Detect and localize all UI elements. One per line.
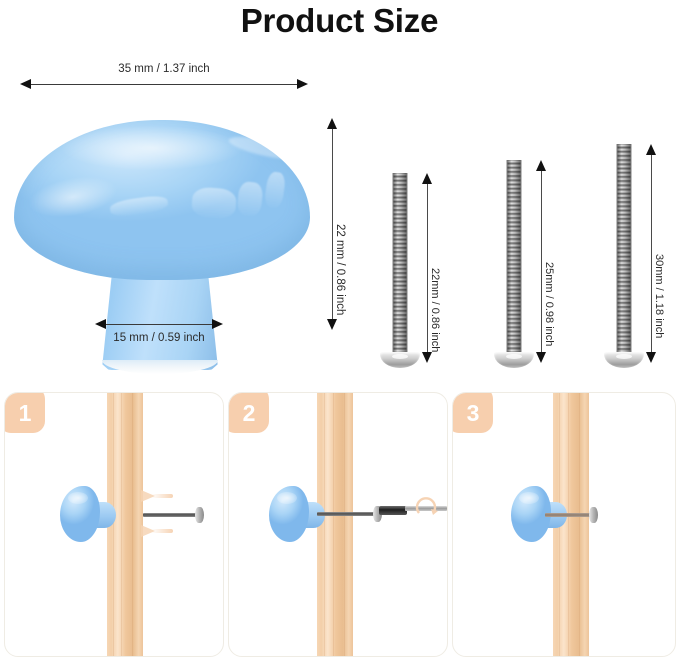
dimension-knob-base-width-label: 15 mm / 0.59 inch [95,332,223,344]
step-number-3: 3 [453,393,493,433]
dimension-line [332,125,333,323]
mini-knob-highlight [68,492,88,504]
step-badge-2: 2 [228,392,269,433]
screw-head [589,507,598,523]
dimension-line [651,151,652,356]
installation-steps: 1 [0,392,679,658]
spec-diagram: 35 mm / 1.37 inch 15 mm / 0.59 inch [0,50,679,390]
screw-shaft [317,512,377,516]
dimension-screw-22mm-label: 22mm / 0.86 inch [429,268,441,352]
screw-icon [143,510,205,519]
screw-head [195,507,204,523]
step-card-3: 3 [452,392,676,657]
motion-arrow-icon-lower [141,525,155,537]
arrow-head-down-icon [646,352,656,363]
arrow-head-right-icon [297,79,308,89]
product-size-infographic: Product Size 35 mm / 1.37 inch [0,0,679,658]
screw-head [494,352,534,368]
dimension-knob-width-label: 35 mm / 1.37 inch [20,63,308,75]
screw-shaft [617,144,632,353]
step-badge-1: 1 [4,392,45,433]
arrow-head-down-icon [422,352,432,363]
rotation-arrow-icon [411,493,445,527]
dimension-screw-30mm: 30mm / 1.18 inch [645,144,659,363]
knob-groove-2 [191,187,237,220]
dimension-knob-width: 35 mm / 1.37 inch [20,78,308,92]
motion-arrow-icon-upper [141,490,155,502]
page-title: Product Size [0,2,679,40]
arrow-head-up-icon [536,160,546,171]
screw-head-icon [545,510,601,519]
screwdriver-icon-handle [379,506,407,515]
mini-knob-highlight [277,492,297,504]
screw-shaft [393,173,408,353]
arrow-head-right-icon [212,319,223,329]
dimension-line [27,84,301,85]
dimension-screw-30mm-label: 30mm / 1.18 inch [653,254,665,338]
arrow-head-up-icon [422,173,432,184]
screw-22mm-illustration [378,173,422,368]
screw-shaft [143,513,197,517]
step-card-2: 2 [228,392,448,657]
arrow-head-left-icon [20,79,31,89]
mini-knob-icon [60,486,118,542]
screw-head [604,352,644,368]
arrow-head-up-icon [327,118,337,129]
knob-highlight-top [62,126,242,170]
knob-base-rim [102,360,218,374]
step-number-2: 2 [229,393,269,433]
dimension-knob-base-width: 15 mm / 0.59 inch [95,318,223,332]
dimension-line [427,180,428,356]
arrow-head-up-icon [646,144,656,155]
dimension-knob-height-label: 22 mm / 0.86 inch [334,224,346,315]
mini-knob-highlight [519,492,539,504]
dimension-line [102,324,216,325]
arrow-head-down-icon [327,319,337,330]
dimension-line [541,167,542,356]
step-number-1: 1 [5,393,45,433]
screw-25mm-illustration [492,160,536,368]
screw-shaft [545,513,593,517]
screw-head [380,352,420,368]
dimension-knob-height: 22 mm / 0.86 inch [326,118,340,330]
step-badge-3: 3 [452,392,493,433]
screw-shaft [507,160,522,353]
step-card-1: 1 [4,392,224,657]
arrow-head-left-icon [95,319,106,329]
dimension-screw-25mm: 25mm / 0.98 inch [535,160,549,363]
dimension-screw-25mm-label: 25mm / 0.98 inch [543,262,555,346]
arrow-head-down-icon [536,352,546,363]
screw-30mm-illustration [602,144,646,368]
dimension-screw-22mm: 22mm / 0.86 inch [421,173,435,363]
